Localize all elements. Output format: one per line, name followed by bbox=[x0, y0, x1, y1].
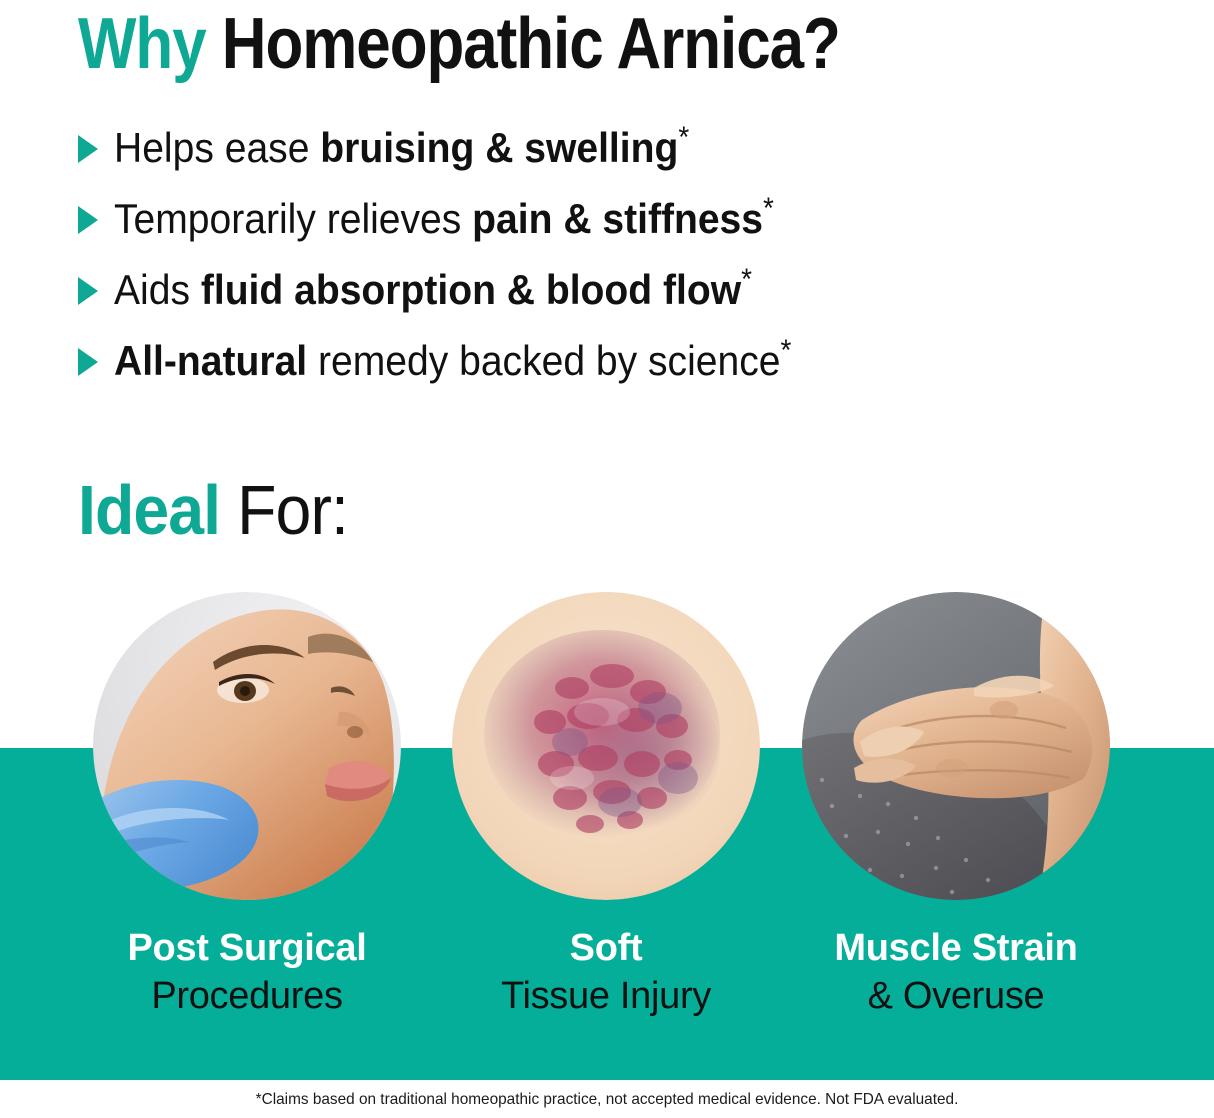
footnote-marker-4: * bbox=[780, 334, 791, 367]
use-case-cards: Post Surgical Procedures bbox=[0, 592, 1214, 1032]
benefit-emphasis-4: All-natural bbox=[114, 337, 307, 384]
use-case-title-3: Muscle Strain bbox=[786, 926, 1126, 970]
footnote-marker-2: * bbox=[763, 192, 774, 225]
infographic-page: Why Homeopathic Arnica? Helps ease bruis… bbox=[0, 0, 1214, 1118]
benefit-emphasis-3: fluid absorption & blood flow bbox=[201, 266, 741, 313]
use-case-title-1: Post Surgical bbox=[77, 926, 417, 970]
benefit-text-4: All-natural remedy backed by science* bbox=[114, 337, 791, 385]
use-case-subtitle-1: Procedures bbox=[77, 974, 417, 1018]
triangle-right-icon bbox=[78, 277, 98, 305]
ideal-for-accent: Ideal bbox=[78, 471, 220, 549]
benefit-text-1: Helps ease bruising & swelling* bbox=[114, 124, 689, 172]
triangle-right-icon bbox=[78, 348, 98, 376]
benefit-lead-1: Helps ease bbox=[114, 124, 320, 171]
disclaimer-footnote: *Claims based on traditional homeopathic… bbox=[24, 1090, 1189, 1110]
page-title: Why Homeopathic Arnica? bbox=[78, 2, 1024, 86]
benefit-text-2: Temporarily relieves pain & stiffness* bbox=[114, 195, 774, 243]
ideal-for-heading: Ideal For: bbox=[78, 470, 348, 550]
triangle-right-icon bbox=[78, 135, 98, 163]
muscle-strain-hand-on-leg-photo bbox=[802, 592, 1110, 900]
footnote-marker-3: * bbox=[741, 263, 752, 296]
use-case-card-muscle-strain: Muscle Strain & Overuse bbox=[786, 592, 1126, 1018]
benefit-lead-2: Temporarily relieves bbox=[114, 195, 472, 242]
use-case-title-2: Soft bbox=[436, 926, 776, 970]
use-case-card-soft-tissue: Soft Tissue Injury bbox=[436, 592, 776, 1018]
page-title-rest: Homeopathic Arnica? bbox=[206, 4, 840, 84]
benefit-lead-3: Aids bbox=[114, 266, 201, 313]
benefit-tail-4: remedy backed by science bbox=[307, 337, 780, 384]
benefit-emphasis-2: pain & stiffness bbox=[472, 195, 763, 242]
ideal-for-rest: For: bbox=[220, 471, 348, 549]
soft-tissue-bruise-photo bbox=[452, 592, 760, 900]
use-case-subtitle-2: Tissue Injury bbox=[436, 974, 776, 1018]
benefits-list: Helps ease bruising & swelling* Temporar… bbox=[78, 112, 1158, 396]
use-case-subtitle-3: & Overuse bbox=[786, 974, 1126, 1018]
post-surgical-face-treatment-photo bbox=[93, 592, 401, 900]
benefit-item-3: Aids fluid absorption & blood flow* bbox=[78, 254, 1158, 325]
benefit-item-4: All-natural remedy backed by science* bbox=[78, 325, 1158, 396]
page-title-accent: Why bbox=[78, 4, 206, 84]
benefit-emphasis-1: bruising & swelling bbox=[320, 124, 678, 171]
benefit-item-1: Helps ease bruising & swelling* bbox=[78, 112, 1158, 183]
benefit-text-3: Aids fluid absorption & blood flow* bbox=[114, 266, 752, 314]
triangle-right-icon bbox=[78, 206, 98, 234]
benefit-item-2: Temporarily relieves pain & stiffness* bbox=[78, 183, 1158, 254]
use-case-card-post-surgical: Post Surgical Procedures bbox=[77, 592, 417, 1018]
footnote-marker-1: * bbox=[678, 121, 689, 154]
